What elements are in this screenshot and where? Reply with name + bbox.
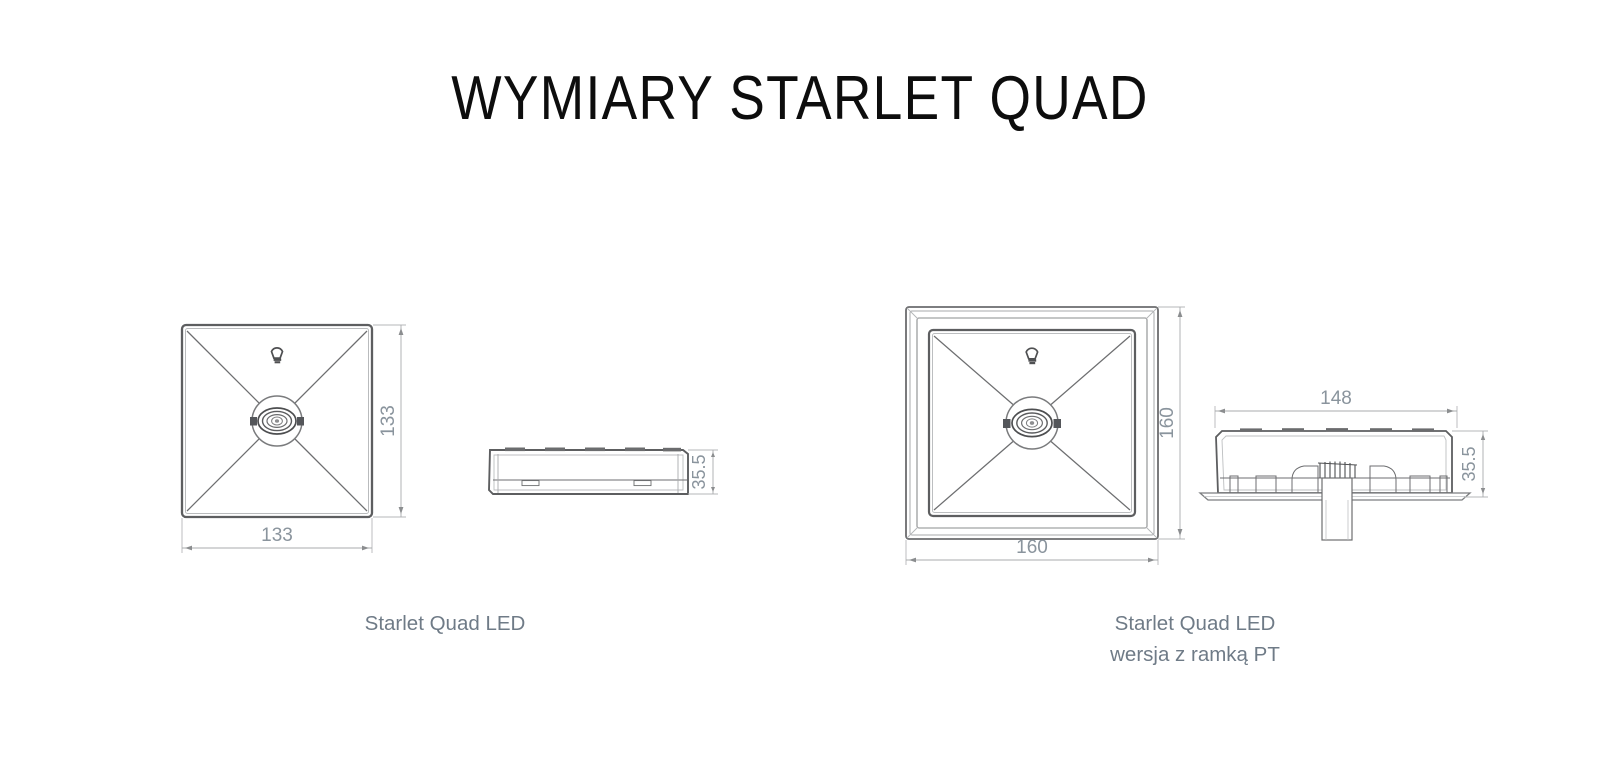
dimension-height-133: 133	[373, 325, 406, 517]
dimension-width-label: 148	[1320, 388, 1352, 409]
dimension-width-148: 148	[1215, 388, 1457, 428]
dimension-height-label: 160	[1157, 407, 1178, 439]
left-side-view-drawing: 35.5	[480, 432, 720, 522]
right-top-view-svg: 160 160	[895, 295, 1185, 565]
dimension-height-label: 35.5	[1459, 446, 1479, 481]
dimension-width-label: 160	[1016, 537, 1048, 558]
right-figure-caption: Starlet Quad LED wersja z ramką PT	[1050, 608, 1340, 670]
caption-line-1: Starlet Quad LED	[300, 608, 590, 639]
dimension-width-133: 133	[182, 518, 372, 553]
left-top-view-drawing: 133 133	[170, 312, 430, 562]
dimension-height-160: 160	[1157, 307, 1185, 539]
left-figure-caption: Starlet Quad LED	[300, 608, 590, 639]
dimension-height-35-5: 35.5	[688, 450, 718, 494]
dimension-height-label: 133	[378, 405, 399, 437]
dimension-width-label: 133	[261, 525, 293, 546]
page-title: WYMIARY STARLET QUAD	[112, 62, 1488, 136]
right-top-view-drawing: 160 160	[895, 295, 1185, 565]
left-top-view-svg: 133 133	[170, 312, 430, 562]
right-side-view-svg: 148	[1200, 390, 1490, 550]
dimension-width-160: 160	[906, 537, 1158, 565]
left-side-view-svg: 35.5	[480, 432, 720, 522]
dimension-height-35-5: 35.5	[1452, 431, 1488, 497]
side-body	[489, 450, 688, 494]
caption-line-2: wersja z ramką PT	[1050, 639, 1340, 670]
dimension-height-label: 35.5	[689, 454, 709, 489]
caption-line-1: Starlet Quad LED	[1050, 608, 1340, 639]
cable-stub	[1322, 478, 1352, 540]
right-side-view-drawing: 148	[1200, 390, 1490, 550]
slide-canvas: WYMIARY STARLET QUAD	[0, 0, 1600, 763]
